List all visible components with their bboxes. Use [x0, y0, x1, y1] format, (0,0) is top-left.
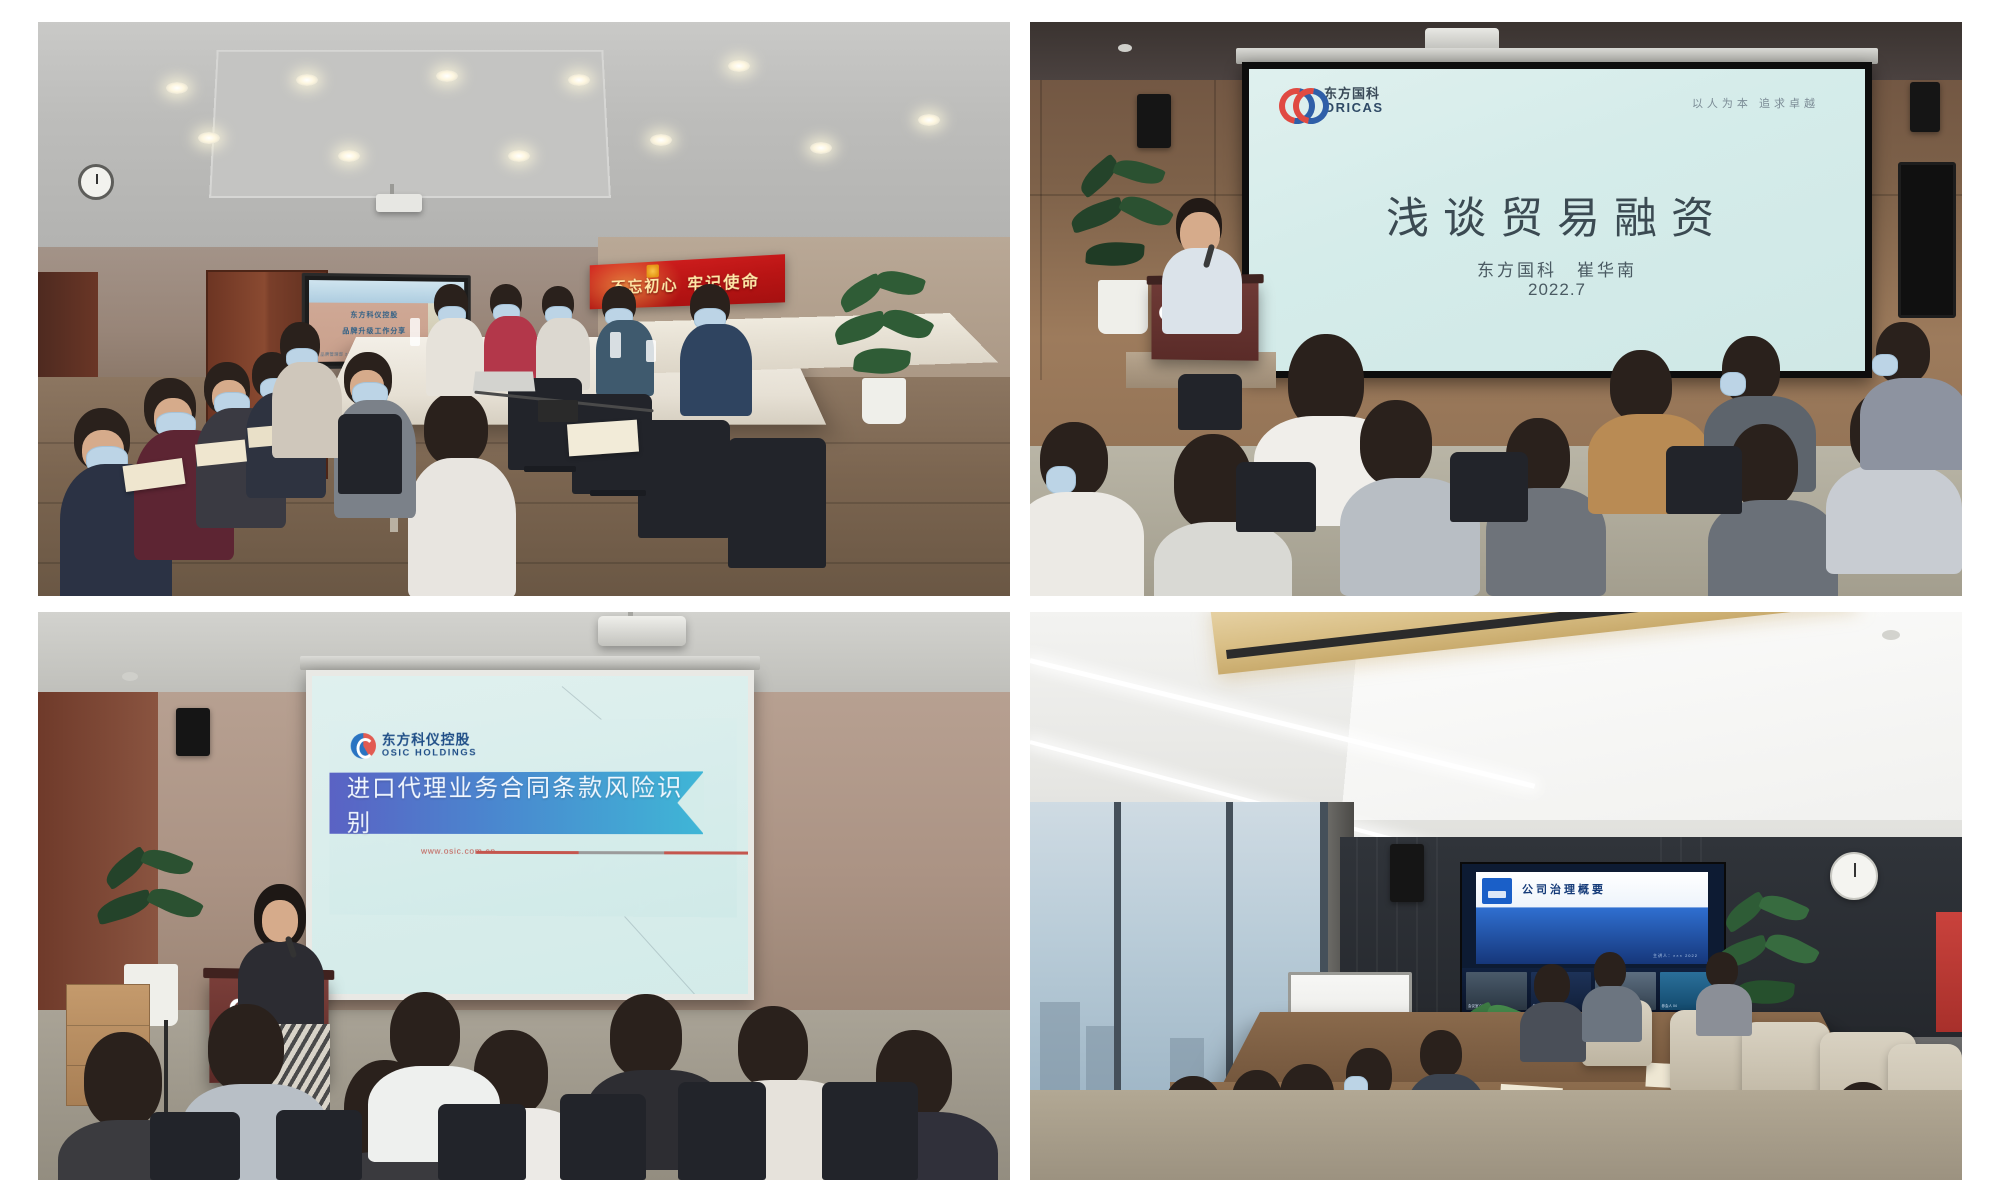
shared-slide: 公司治理概要 主讲人：××× 2022 — [1476, 872, 1708, 964]
wall-accent-strip — [1936, 912, 1962, 1032]
window-mullion — [1226, 802, 1233, 1102]
osic-logo-icon — [351, 733, 376, 759]
smoke-detector-icon — [1882, 630, 1900, 640]
slide-logo: 东方国科 ORICAS — [1279, 87, 1384, 114]
notebook — [567, 420, 639, 457]
chair-base — [590, 490, 646, 496]
water-bottle — [410, 318, 420, 346]
plant-pot — [1098, 280, 1148, 334]
screen-roller — [300, 656, 760, 670]
slide: 东方国科 ORICAS 以人为本 追求卓越 浅谈贸易融资 东方国科 崔华南 20… — [1249, 69, 1865, 371]
seat-back[interactable] — [276, 1110, 362, 1180]
wall-speaker — [176, 708, 210, 756]
logo-text: 东方科仪控股 OSIC HOLDINGS — [382, 732, 477, 758]
office-chair[interactable] — [728, 438, 826, 568]
plant-leaf — [1085, 240, 1145, 268]
seat-back[interactable] — [438, 1104, 526, 1180]
head — [208, 1004, 284, 1092]
slide-rule — [476, 851, 748, 855]
torso — [408, 458, 516, 596]
ceiling-coffer — [209, 50, 611, 198]
seat-back[interactable] — [1666, 446, 1742, 514]
chair-base — [524, 466, 576, 472]
ceiling-light — [650, 134, 672, 146]
projector — [376, 194, 422, 212]
slide-presenter: 东方国科 崔华南 — [1249, 256, 1865, 281]
wall-seam — [1040, 80, 1042, 380]
ceiling-light — [918, 114, 940, 126]
ceiling-light — [810, 142, 832, 154]
wall-clock-icon — [78, 164, 114, 200]
plant-leaf — [1764, 927, 1820, 971]
panel-top-left-conference-meeting[interactable]: 东方科仪控股 品牌升级工作分享 品牌管理部 2021年11月 不忘初心 牢记使命 — [38, 22, 1010, 596]
logo-text: 东方国科 ORICAS — [1324, 87, 1384, 114]
oricas-logo-icon — [1279, 88, 1317, 113]
slide: 东方科仪控股 OSIC HOLDINGS 进口代理业务合同条款风险识别 www.… — [329, 718, 737, 917]
slide-footer: 主讲人：××× 2022 — [1653, 953, 1698, 959]
laptop[interactable] — [473, 371, 536, 391]
head — [390, 992, 460, 1074]
floor — [1030, 1090, 1962, 1180]
office-chair[interactable] — [638, 420, 730, 538]
plant-leaf — [94, 889, 154, 926]
slide-title: 公司治理概要 — [1522, 881, 1606, 897]
plant-leaf — [879, 302, 934, 345]
ceiling-light — [436, 70, 458, 82]
floor-seam — [38, 562, 1010, 564]
city-skyline — [1086, 1026, 1114, 1092]
head — [424, 392, 488, 466]
logo-text-en: ORICAS — [1324, 101, 1384, 115]
torso — [1708, 500, 1838, 596]
potted-plant — [828, 272, 948, 432]
face — [262, 900, 298, 942]
plant-pot — [862, 378, 906, 424]
projector — [598, 616, 686, 646]
slide-logo-icon — [1482, 878, 1512, 904]
plant-leaf — [146, 881, 204, 924]
ceiling-light — [728, 60, 750, 72]
head — [1706, 952, 1738, 988]
panel-top-right-lecture-oricas[interactable]: 东方国科 ORICAS 以人为本 追求卓越 浅谈贸易融资 东方国科 崔华南 20… — [1030, 22, 1962, 596]
ceiling-light — [338, 150, 360, 162]
torso — [1696, 984, 1752, 1036]
logo-text-en: OSIC HOLDINGS — [382, 747, 477, 758]
face-mask — [1046, 466, 1076, 494]
projection-screen[interactable]: 东方国科 ORICAS 以人为本 追求卓越 浅谈贸易融资 东方国科 崔华南 20… — [1242, 62, 1872, 378]
participant-name: 参会人 04 — [1662, 1004, 1677, 1009]
cabinet-seam — [67, 1025, 149, 1026]
torso — [1826, 464, 1962, 574]
torso — [1030, 492, 1144, 596]
ceiling-light — [166, 82, 188, 94]
city-skyline — [1040, 1002, 1080, 1092]
head — [1534, 964, 1570, 1006]
wall-clock-icon — [1830, 852, 1878, 900]
face-mask — [1872, 354, 1898, 376]
side-display[interactable] — [1898, 162, 1956, 318]
head — [84, 1032, 162, 1128]
logo-text-cn: 东方国科 — [1324, 87, 1384, 101]
plant-leaf — [853, 345, 911, 377]
smoke-detector-icon — [122, 672, 138, 681]
seat-back[interactable] — [1236, 462, 1316, 532]
photo-collage: 东方科仪控股 品牌升级工作分享 品牌管理部 2021年11月 不忘初心 牢记使命 — [0, 0, 2000, 1200]
window-mullion — [1114, 802, 1121, 1102]
tablet[interactable] — [538, 400, 578, 422]
wall-speaker — [1137, 94, 1171, 148]
logo-text-cn: 东方科仪控股 — [382, 732, 477, 747]
seat-back[interactable] — [1450, 452, 1528, 522]
seat-back[interactable] — [678, 1082, 766, 1180]
head — [1360, 400, 1432, 486]
torso — [1162, 248, 1242, 334]
torso — [680, 324, 752, 416]
head — [738, 1006, 808, 1088]
slide-tagline: 以人为本 追求卓越 — [1692, 95, 1819, 111]
torso — [272, 362, 342, 458]
ceiling-light — [198, 132, 220, 144]
slide-title: 浅谈贸易融资 — [1249, 184, 1865, 246]
torso — [1860, 378, 1962, 470]
wall-speaker — [1910, 82, 1940, 132]
projection-screen[interactable]: 东方科仪控股 OSIC HOLDINGS 进口代理业务合同条款风险识别 www.… — [306, 670, 754, 1000]
plant-leaf — [1118, 189, 1174, 233]
wall-speaker — [1390, 844, 1424, 902]
smoke-detector-icon — [1118, 44, 1132, 52]
panel-bottom-right-boardroom[interactable]: 公司治理概要 主讲人：××× 2022 会议室 01 参会人 02 共享屏幕 0… — [1030, 612, 1962, 1180]
slide-title-band: 进口代理业务合同条款风险识别 — [329, 771, 703, 834]
slide-title: 进口代理业务合同条款风险识别 — [347, 771, 704, 834]
plant-leaf — [1068, 196, 1126, 234]
wall-slat — [1436, 837, 1438, 1037]
torso — [1582, 986, 1642, 1042]
slide-logo: 东方科仪控股 OSIC HOLDINGS — [351, 732, 477, 758]
head — [1594, 952, 1626, 990]
head — [610, 994, 682, 1078]
seat-back[interactable] — [560, 1094, 646, 1180]
seat-back[interactable] — [822, 1082, 918, 1180]
screen-surface: 东方科仪控股 OSIC HOLDINGS 进口代理业务合同条款风险识别 www.… — [312, 676, 748, 994]
office-chair[interactable] — [338, 414, 402, 494]
ceiling-light — [568, 74, 590, 86]
slide-date: 2022.7 — [1249, 280, 1865, 300]
head — [1420, 1030, 1462, 1078]
seat-back[interactable] — [150, 1112, 240, 1180]
plant-leaf — [832, 310, 888, 346]
head — [1610, 350, 1672, 422]
ceiling-light — [296, 74, 318, 86]
torso — [1520, 1002, 1586, 1062]
seat-back[interactable] — [1178, 374, 1242, 430]
face-mask — [1720, 372, 1746, 396]
torso — [1154, 522, 1292, 596]
water-bottle — [610, 332, 621, 358]
panel-bottom-left-osic-presentation[interactable]: 东方科仪控股 OSIC HOLDINGS 进口代理业务合同条款风险识别 www.… — [38, 612, 1010, 1180]
ceiling-light — [508, 150, 530, 162]
water-bottle — [646, 340, 656, 362]
